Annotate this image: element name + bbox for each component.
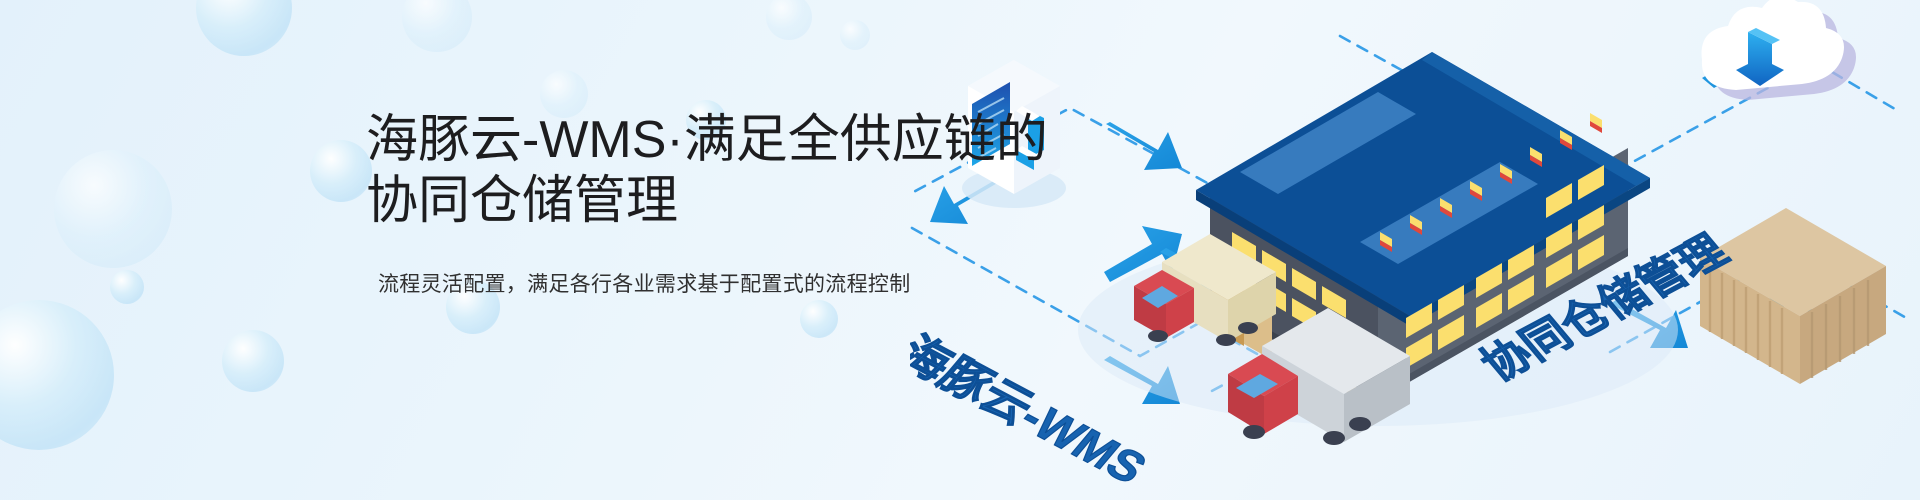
page-title: 海豚云-WMS·满足全供应链的 协同仓储管理	[366, 110, 1126, 233]
decorative-bubble	[800, 300, 838, 338]
decorative-bubble	[222, 330, 284, 392]
decorative-bubble	[766, 0, 812, 40]
decorative-bubble	[0, 300, 114, 450]
decorative-bubble	[310, 140, 372, 202]
page-subtitle: 流程灵活配置，满足各行各业需求基于配置式的流程控制	[378, 269, 1126, 301]
cloud-download-icon	[1702, 0, 1856, 100]
decorative-bubble	[840, 20, 870, 50]
hero-copy: 海豚云-WMS·满足全供应链的 协同仓储管理 流程灵活配置，满足各行各业需求基于…	[366, 110, 1126, 300]
shipping-container	[1700, 208, 1886, 384]
decorative-bubble	[110, 270, 144, 304]
hero-banner: 海豚云-WMS·满足全供应链的 协同仓储管理 流程灵活配置，满足各行各业需求基于…	[0, 0, 1920, 500]
decorative-bubble	[196, 0, 292, 56]
decorative-bubble	[54, 150, 172, 268]
decorative-bubble	[402, 0, 472, 52]
